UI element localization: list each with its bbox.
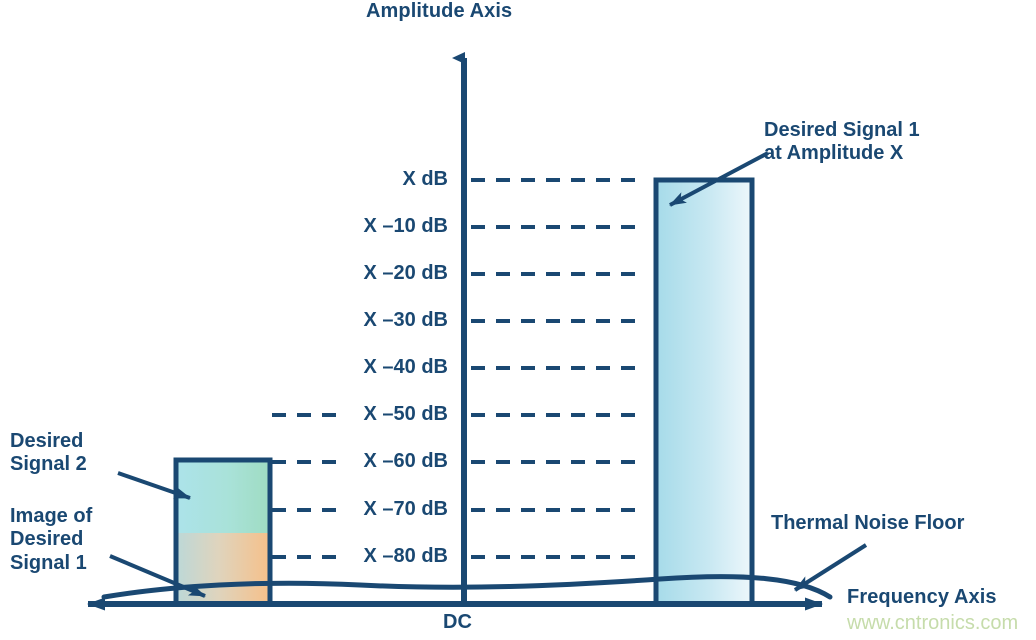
y-tick-label-1: X –10 dB [243,215,448,238]
gridlines-right [471,180,643,557]
diagram-canvas: Amplitude Axis Frequency Axis DC X dB X … [0,0,1036,640]
diagram-svg [0,0,1036,640]
bar-desired-signal-1 [656,180,752,604]
watermark: www.cntronics.com [847,612,1018,635]
gridlines-left [272,415,336,557]
annotation-thermal-noise-floor: Thermal Noise Floor [771,512,964,535]
y-tick-label-5: X –50 dB [243,403,448,426]
annotation-desired-signal-1: Desired Signal 1 at Amplitude X [764,119,920,166]
annotation-desired-signal-2: Desired Signal 2 [10,430,87,477]
y-tick-label-7: X –70 dB [243,498,448,521]
annotation-image-of-desired-signal-1: Image of Desired Signal 1 [10,505,92,575]
frequency-axis-title: Frequency Axis [847,586,997,609]
amplitude-axis-title: Amplitude Axis [366,0,512,23]
y-tick-label-6: X –60 dB [243,450,448,473]
y-tick-label-4: X –40 dB [243,356,448,379]
y-tick-label-3: X –30 dB [243,309,448,332]
leader-thermal-noise-floor [795,545,866,590]
y-tick-label-8: X –80 dB [243,545,448,568]
y-tick-label-0: X dB [243,168,448,191]
dc-label: DC [443,611,472,634]
y-tick-label-2: X –20 dB [243,262,448,285]
